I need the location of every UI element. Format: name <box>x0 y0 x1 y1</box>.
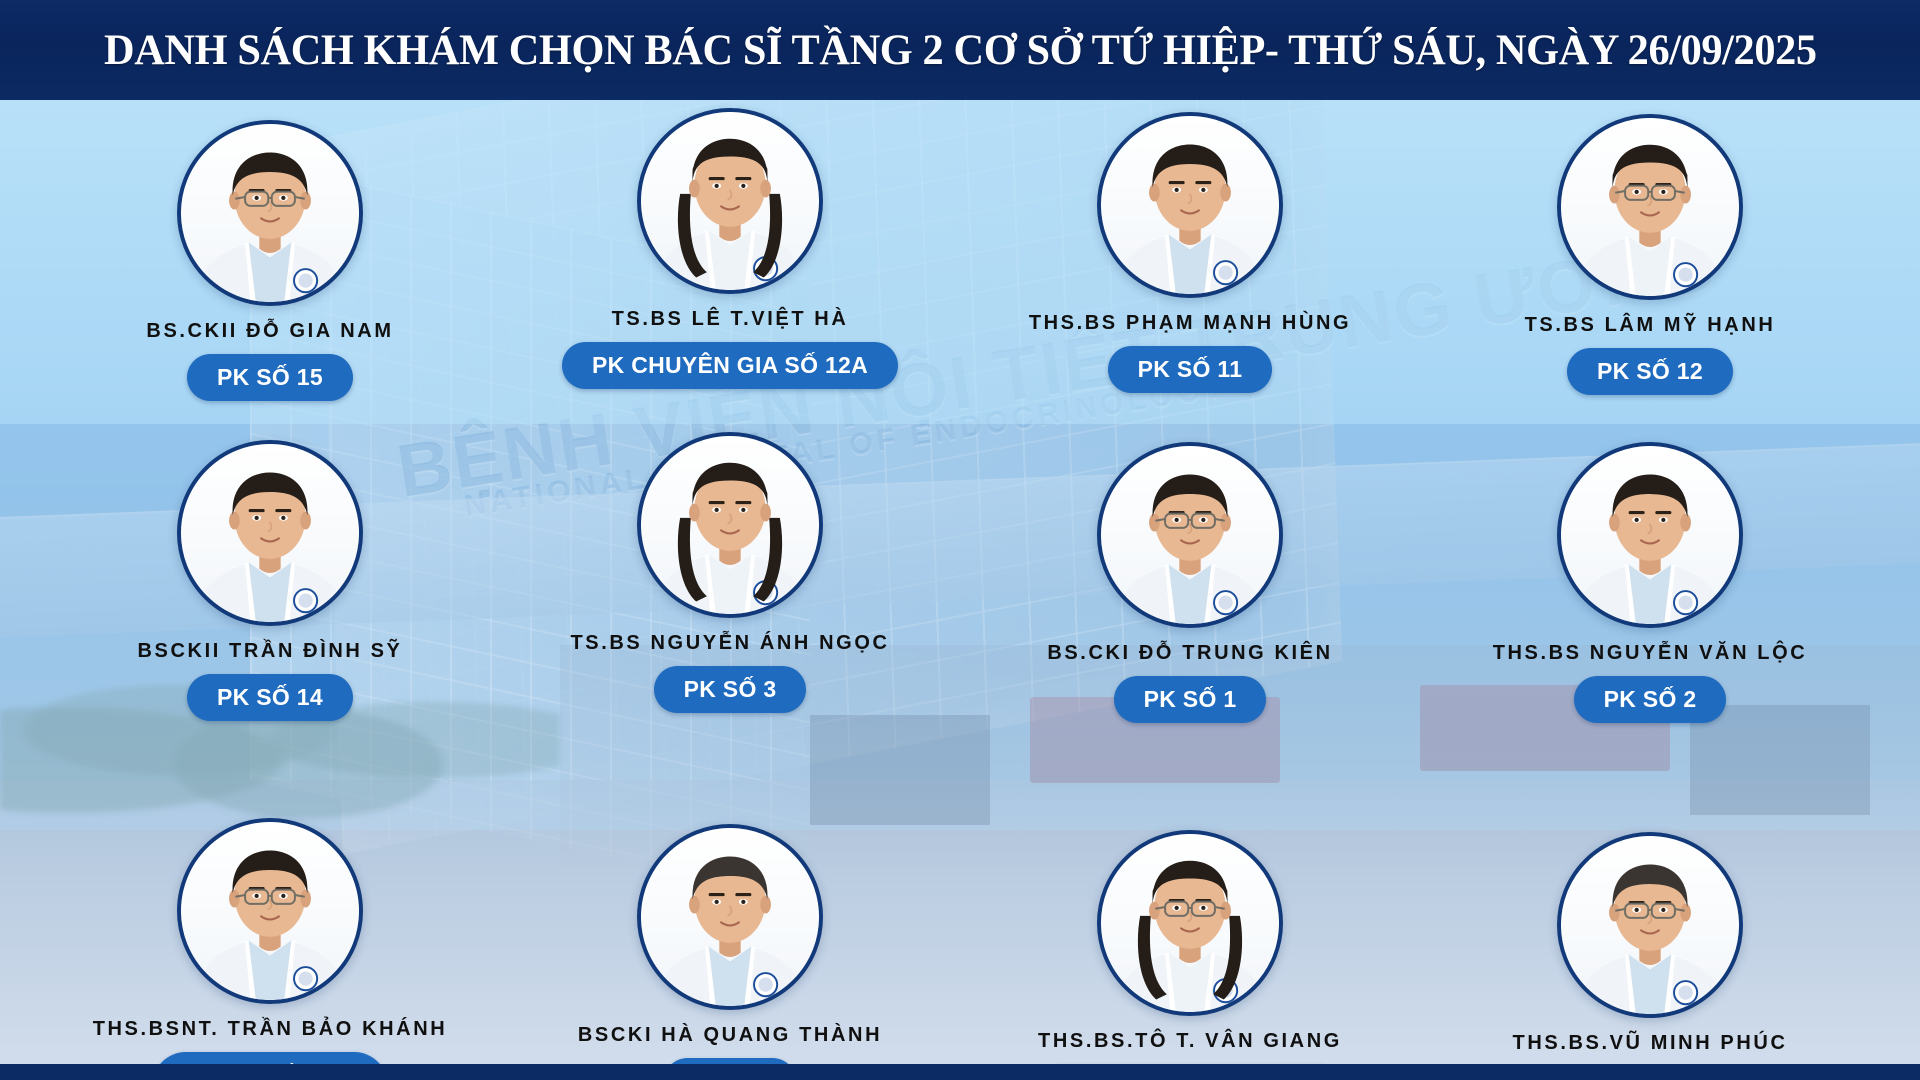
doctor-card[interactable]: THS.BSNT. TRẦN BẢO KHÁNHPK SỐ 5Da liễu -… <box>70 818 470 1080</box>
doctor-card[interactable]: BSCKI HÀ QUANG THÀNHPK XẠ <box>530 824 930 1080</box>
footer-bar <box>0 1064 1920 1080</box>
doctor-grid: BS.CKII ĐỖ GIA NAMPK SỐ 15 <box>0 100 1920 1080</box>
doctor-name: BSCKII TRẦN ĐÌNH SỸ <box>138 640 403 662</box>
doctor-name: BS.CKI ĐỖ TRUNG KIÊN <box>1047 642 1332 664</box>
doctor-avatar <box>637 432 823 618</box>
doctor-row-1: BS.CKII ĐỖ GIA NAMPK SỐ 15 <box>0 108 1920 428</box>
doctor-avatar <box>1097 442 1283 628</box>
doctor-name: THS.BS.VŨ MINH PHÚC <box>1513 1032 1788 1054</box>
doctor-name: BSCKI HÀ QUANG THÀNH <box>578 1024 882 1046</box>
doctor-avatar <box>1097 112 1283 298</box>
room-badge[interactable]: PK SỐ 11 <box>1108 346 1273 393</box>
room-badge[interactable]: PK SỐ 2 <box>1574 676 1727 723</box>
doctor-name: THS.BSNT. TRẦN BẢO KHÁNH <box>93 1018 448 1040</box>
doctor-card[interactable]: THS.BS PHẠM MẠNH HÙNGPK SỐ 11 <box>990 112 1390 393</box>
doctor-avatar <box>1557 832 1743 1018</box>
room-badge-main: PK CHUYÊN GIA SỐ 12A <box>592 352 868 378</box>
doctor-name: TS.BS LÂM MỸ HẠNH <box>1525 314 1776 336</box>
doctor-card[interactable]: TS.BS LÂM MỸ HẠNHPK SỐ 12 <box>1450 114 1850 395</box>
room-badge-main: PK SỐ 1 <box>1144 686 1237 712</box>
room-badge-main: PK SỐ 11 <box>1138 356 1243 382</box>
doctor-avatar <box>1557 114 1743 300</box>
room-badge[interactable]: PK SỐ 12 <box>1567 348 1733 395</box>
doctor-card[interactable]: THS.BS NGUYỄN VĂN LỘCPK SỐ 2 <box>1450 442 1850 723</box>
room-badge-main: PK SỐ 3 <box>684 676 777 702</box>
doctor-name: THS.BS NGUYỄN VĂN LỘC <box>1493 642 1808 664</box>
room-badge[interactable]: PK SỐ 14 <box>187 674 353 721</box>
doctor-name: THS.BS PHẠM MẠNH HÙNG <box>1029 312 1351 334</box>
doctor-name: BS.CKII ĐỖ GIA NAM <box>146 320 393 342</box>
room-badge-main: PK SỐ 15 <box>217 364 323 390</box>
room-badge[interactable]: PK CHUYÊN GIA SỐ 12A <box>562 342 898 389</box>
room-badge[interactable]: PK SỐ 1 <box>1114 676 1267 723</box>
doctor-card[interactable]: THS.BS.VŨ MINH PHÚCPK SỐ 16A-B - BÀN B <box>1450 832 1850 1080</box>
room-badge-main: PK SỐ 2 <box>1604 686 1697 712</box>
room-badge[interactable]: PK SỐ 3 <box>654 666 807 713</box>
doctor-card[interactable]: THS.BS.TÔ T. VÂN GIANGPK SỐ 16A-B - BÀN … <box>990 830 1390 1080</box>
doctor-avatar <box>637 108 823 294</box>
doctor-avatar <box>1557 442 1743 628</box>
doctor-avatar <box>177 818 363 1004</box>
doctor-row-3: THS.BSNT. TRẦN BẢO KHÁNHPK SỐ 5Da liễu -… <box>0 818 1920 1080</box>
doctor-card[interactable]: TS.BS LÊ T.VIỆT HÀPK CHUYÊN GIA SỐ 12A <box>530 108 930 389</box>
doctor-avatar <box>1097 830 1283 1016</box>
doctor-avatar <box>637 824 823 1010</box>
doctor-card[interactable]: TS.BS NGUYỄN ÁNH NGỌCPK SỐ 3 <box>530 432 930 713</box>
header-bar: DANH SÁCH KHÁM CHỌN BÁC SĨ TẦNG 2 CƠ SỞ … <box>0 0 1920 100</box>
doctor-row-2: BSCKII TRẦN ĐÌNH SỸPK SỐ 14 <box>0 430 1920 830</box>
doctor-name: TS.BS LÊ T.VIỆT HÀ <box>612 308 849 330</box>
doctor-name: THS.BS.TÔ T. VÂN GIANG <box>1038 1030 1342 1052</box>
doctor-avatar <box>177 440 363 626</box>
doctor-avatar <box>177 120 363 306</box>
doctor-card[interactable]: BS.CKI ĐỖ TRUNG KIÊNPK SỐ 1 <box>990 442 1390 723</box>
doctor-name: TS.BS NGUYỄN ÁNH NGỌC <box>570 632 889 654</box>
room-badge-main: PK SỐ 12 <box>1597 358 1703 384</box>
page-title: DANH SÁCH KHÁM CHỌN BÁC SĨ TẦNG 2 CƠ SỞ … <box>104 26 1817 75</box>
doctor-card[interactable]: BS.CKII ĐỖ GIA NAMPK SỐ 15 <box>70 120 470 401</box>
doctor-card[interactable]: BSCKII TRẦN ĐÌNH SỸPK SỐ 14 <box>70 440 470 721</box>
room-badge-main: PK SỐ 14 <box>217 684 323 710</box>
room-badge[interactable]: PK SỐ 15 <box>187 354 353 401</box>
